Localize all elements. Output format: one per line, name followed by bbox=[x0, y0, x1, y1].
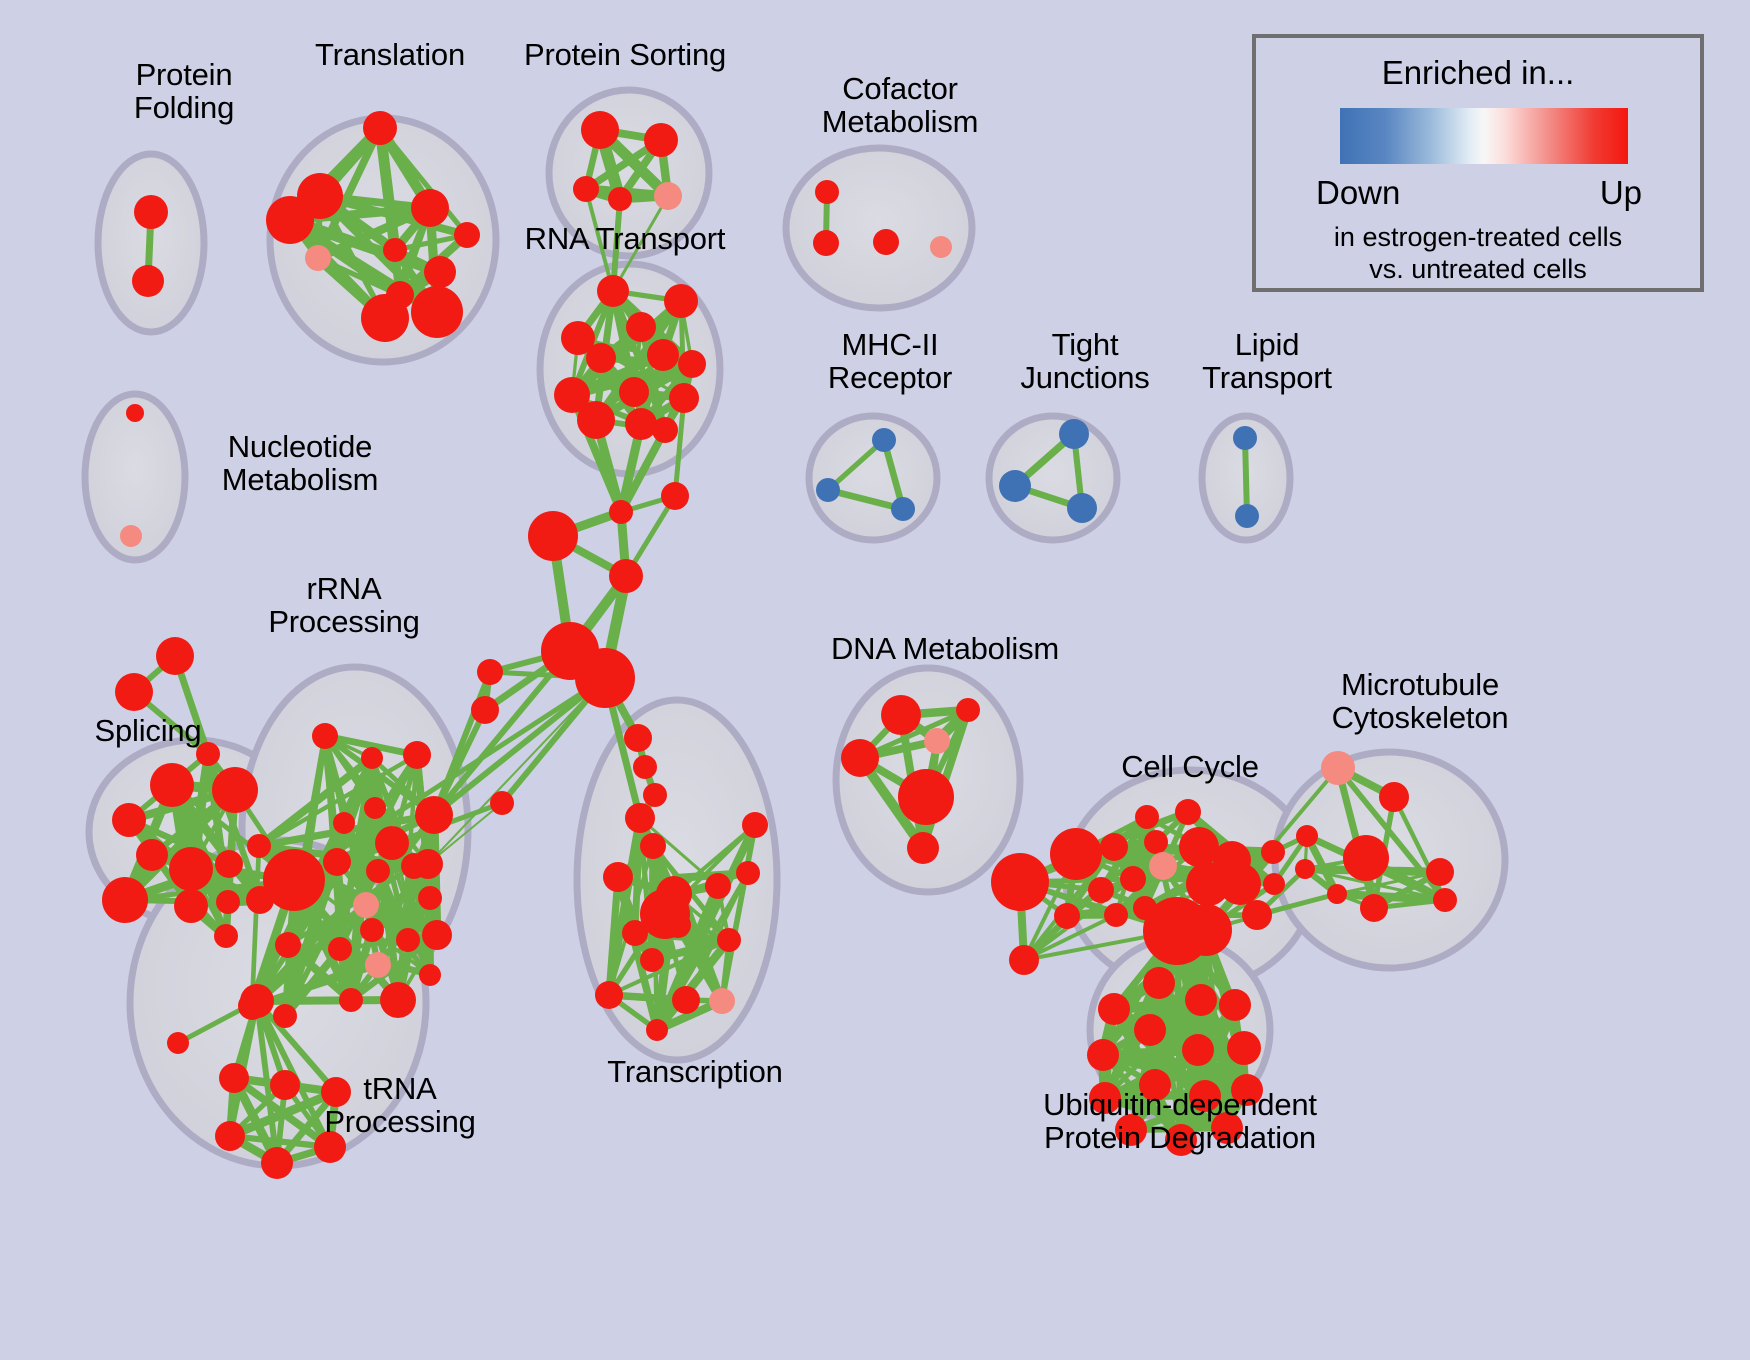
node-translation bbox=[411, 189, 449, 227]
node-rrna-processing bbox=[364, 797, 386, 819]
node-ubiquitin-protein-degradation bbox=[1231, 1074, 1263, 1106]
node-rrna-processing bbox=[380, 982, 416, 1018]
legend-caption: in estrogen-treated cells vs. untreated … bbox=[1256, 222, 1700, 286]
node-microtubule-cytoskeleton bbox=[1360, 894, 1388, 922]
node-ubiquitin-protein-degradation bbox=[1189, 1080, 1221, 1112]
node-rrna-processing bbox=[328, 937, 352, 961]
node-trna-processing bbox=[270, 1070, 300, 1100]
node-splicing bbox=[169, 847, 213, 891]
node-ubiquitin-protein-degradation bbox=[1134, 1014, 1166, 1046]
node-trna-processing bbox=[321, 1077, 351, 1107]
node-rrna-processing bbox=[333, 812, 355, 834]
node-rrna-processing bbox=[353, 892, 379, 918]
node-rna-transport bbox=[586, 343, 616, 373]
node-ubiquitin-protein-degradation bbox=[1143, 967, 1175, 999]
node-cell-cycle bbox=[1144, 830, 1168, 854]
node-lipid-transport bbox=[1233, 426, 1257, 450]
node-protein-sorting bbox=[654, 182, 682, 210]
node-splicing bbox=[214, 924, 238, 948]
node-splicing bbox=[196, 742, 220, 766]
node-ubiquitin-protein-degradation bbox=[1185, 984, 1217, 1016]
node-splicing bbox=[112, 803, 146, 837]
node-translation bbox=[305, 245, 331, 271]
node-cell-cycle bbox=[1120, 866, 1146, 892]
halo-cofactor-metabolism bbox=[786, 148, 972, 308]
node-mhc-ii-receptor bbox=[816, 478, 840, 502]
node-cell-cycle bbox=[1180, 904, 1232, 956]
node-rrna-processing bbox=[477, 659, 503, 685]
node-microtubule-cytoskeleton bbox=[1296, 825, 1318, 847]
node-cell-cycle bbox=[1135, 805, 1159, 829]
node-rna-transport bbox=[664, 284, 698, 318]
halo-protein-sorting bbox=[549, 90, 709, 256]
node-dna-metabolism bbox=[898, 769, 954, 825]
node-transcription bbox=[603, 862, 633, 892]
node-cell-cycle bbox=[1054, 903, 1080, 929]
node-rna-transport bbox=[597, 275, 629, 307]
node-protein-folding bbox=[132, 265, 164, 297]
node-microtubule-cytoskeleton bbox=[1433, 888, 1457, 912]
node-cell-cycle bbox=[1263, 873, 1285, 895]
node-splicing bbox=[216, 890, 240, 914]
node-splicing bbox=[150, 763, 194, 807]
node-rna-transport bbox=[669, 383, 699, 413]
node-rrna-processing bbox=[247, 834, 271, 858]
node-rna-transport bbox=[678, 350, 706, 378]
node-trna-processing bbox=[314, 1131, 346, 1163]
node-transcription bbox=[640, 833, 666, 859]
node-rna-transport bbox=[652, 417, 678, 443]
node-tight-junctions bbox=[999, 470, 1031, 502]
node-translation bbox=[361, 294, 409, 342]
node-microtubule-cytoskeleton bbox=[1295, 859, 1315, 879]
node-cell-cycle bbox=[1104, 903, 1128, 927]
node-central-hub bbox=[528, 511, 578, 561]
node-dna-metabolism bbox=[907, 832, 939, 864]
node-cell-cycle bbox=[1175, 799, 1201, 825]
enrichment-map-figure: Protein Folding Translation Protein Sort… bbox=[0, 0, 1750, 1360]
node-central-hub bbox=[575, 648, 635, 708]
legend-high-label: Up bbox=[1600, 174, 1642, 212]
node-rrna-processing bbox=[396, 928, 420, 952]
node-protein-sorting bbox=[581, 111, 619, 149]
node-central-hub bbox=[609, 559, 643, 593]
node-translation bbox=[266, 196, 314, 244]
node-cell-cycle bbox=[1242, 900, 1272, 930]
node-rrna-processing bbox=[403, 741, 431, 769]
node-central-hub bbox=[609, 500, 633, 524]
node-tight-junctions bbox=[1059, 419, 1089, 449]
node-ubiquitin-protein-degradation bbox=[1089, 1082, 1121, 1114]
node-lipid-transport bbox=[1235, 504, 1259, 528]
node-rrna-processing bbox=[375, 826, 409, 860]
node-splicing bbox=[156, 637, 194, 675]
node-rrna-processing bbox=[418, 886, 442, 910]
node-rna-transport bbox=[626, 312, 656, 342]
node-dna-metabolism bbox=[881, 695, 921, 735]
node-splicing bbox=[212, 767, 258, 813]
node-trna-processing bbox=[240, 984, 274, 1018]
node-ubiquitin-protein-degradation bbox=[1098, 993, 1130, 1025]
node-microtubule-cytoskeleton bbox=[1379, 782, 1409, 812]
node-rna-transport bbox=[625, 408, 657, 440]
node-translation bbox=[424, 256, 456, 288]
node-transcription bbox=[672, 986, 700, 1014]
node-trna-processing bbox=[215, 1121, 245, 1151]
node-rrna-processing bbox=[361, 747, 383, 769]
node-splicing bbox=[136, 839, 168, 871]
node-cell-cycle bbox=[1261, 840, 1285, 864]
node-rrna-processing bbox=[312, 723, 338, 749]
node-rrna-processing bbox=[413, 849, 443, 879]
node-transcription bbox=[595, 981, 623, 1009]
node-transcription bbox=[705, 873, 731, 899]
node-dna-metabolism bbox=[956, 698, 980, 722]
legend-color-gradient-bar bbox=[1340, 108, 1628, 164]
node-rna-transport bbox=[619, 377, 649, 407]
node-rrna-processing bbox=[366, 859, 390, 883]
node-nucleotide-metabolism bbox=[120, 525, 142, 547]
node-microtubule-cytoskeleton bbox=[1321, 751, 1355, 785]
node-splicing bbox=[215, 850, 243, 878]
node-splicing bbox=[174, 889, 208, 923]
legend-title: Enriched in... bbox=[1256, 54, 1700, 92]
node-cofactor-metabolism bbox=[815, 180, 839, 204]
node-cell-cycle bbox=[1009, 945, 1039, 975]
node-cell-cycle bbox=[1149, 852, 1177, 880]
node-central-hub bbox=[624, 724, 652, 752]
node-protein-sorting bbox=[644, 123, 678, 157]
node-microtubule-cytoskeleton bbox=[1343, 835, 1389, 881]
node-protein-folding bbox=[134, 195, 168, 229]
legend-box: Enriched in... Down Up in estrogen-treat… bbox=[1252, 34, 1704, 292]
node-trna-processing bbox=[261, 1147, 293, 1179]
node-transcription bbox=[640, 889, 690, 939]
node-rrna-processing bbox=[273, 1004, 297, 1028]
node-protein-sorting bbox=[573, 176, 599, 202]
node-cofactor-metabolism bbox=[930, 236, 952, 258]
node-ubiquitin-protein-degradation bbox=[1115, 1114, 1147, 1146]
node-microtubule-cytoskeleton bbox=[1327, 884, 1347, 904]
node-cell-cycle bbox=[1088, 877, 1114, 903]
node-cell-cycle bbox=[1179, 827, 1219, 867]
node-rna-transport bbox=[647, 339, 679, 371]
node-ubiquitin-protein-degradation bbox=[1182, 1034, 1214, 1066]
node-rrna-processing bbox=[339, 988, 363, 1012]
node-rna-transport bbox=[577, 401, 615, 439]
node-rrna-processing bbox=[415, 796, 453, 834]
node-central-hub bbox=[643, 783, 667, 807]
node-transcription bbox=[640, 948, 664, 972]
node-tight-junctions bbox=[1067, 493, 1097, 523]
legend-low-label: Down bbox=[1316, 174, 1400, 212]
node-mhc-ii-receptor bbox=[891, 497, 915, 521]
node-rrna-processing bbox=[422, 920, 452, 950]
node-ubiquitin-protein-degradation bbox=[1227, 1031, 1261, 1065]
node-translation bbox=[363, 111, 397, 145]
node-dna-metabolism bbox=[841, 739, 879, 777]
node-central-hub bbox=[490, 791, 514, 815]
node-ubiquitin-protein-degradation bbox=[1211, 1112, 1243, 1144]
node-ubiquitin-protein-degradation bbox=[1219, 989, 1251, 1021]
node-rrna-processing bbox=[419, 964, 441, 986]
node-transcription bbox=[646, 1019, 668, 1041]
node-ubiquitin-protein-degradation bbox=[1087, 1039, 1119, 1071]
node-mhc-ii-receptor bbox=[872, 428, 896, 452]
node-rrna-processing bbox=[365, 952, 391, 978]
node-cell-cycle bbox=[1100, 833, 1128, 861]
node-trna-processing bbox=[219, 1063, 249, 1093]
node-protein-sorting bbox=[608, 187, 632, 211]
node-central-hub bbox=[633, 755, 657, 779]
node-transcription bbox=[736, 861, 760, 885]
node-dna-metabolism bbox=[924, 728, 950, 754]
node-ubiquitin-protein-degradation bbox=[1139, 1069, 1171, 1101]
node-splicing bbox=[102, 877, 148, 923]
node-transcription bbox=[742, 812, 768, 838]
node-ubiquitin-protein-degradation bbox=[1165, 1124, 1197, 1156]
node-microtubule-cytoskeleton bbox=[1426, 858, 1454, 886]
node-rrna-processing bbox=[263, 849, 325, 911]
node-cofactor-metabolism bbox=[813, 230, 839, 256]
node-cell-cycle bbox=[991, 853, 1049, 911]
node-translation bbox=[411, 286, 463, 338]
node-rrna-processing bbox=[275, 932, 301, 958]
node-rrna-processing bbox=[471, 696, 499, 724]
node-cell-cycle bbox=[1050, 828, 1102, 880]
node-transcription bbox=[709, 988, 735, 1014]
node-translation bbox=[383, 238, 407, 262]
node-translation bbox=[454, 222, 480, 248]
node-rrna-processing bbox=[360, 918, 384, 942]
node-cofactor-metabolism bbox=[873, 229, 899, 255]
node-rrna-processing bbox=[323, 848, 351, 876]
node-transcription bbox=[625, 803, 655, 833]
node-nucleotide-metabolism bbox=[126, 404, 144, 422]
node-splicing bbox=[115, 673, 153, 711]
node-trna-processing bbox=[167, 1032, 189, 1054]
halo-mhc-ii-receptor bbox=[809, 416, 937, 540]
node-central-hub bbox=[661, 482, 689, 510]
node-transcription bbox=[717, 928, 741, 952]
node-cell-cycle bbox=[1219, 863, 1261, 905]
